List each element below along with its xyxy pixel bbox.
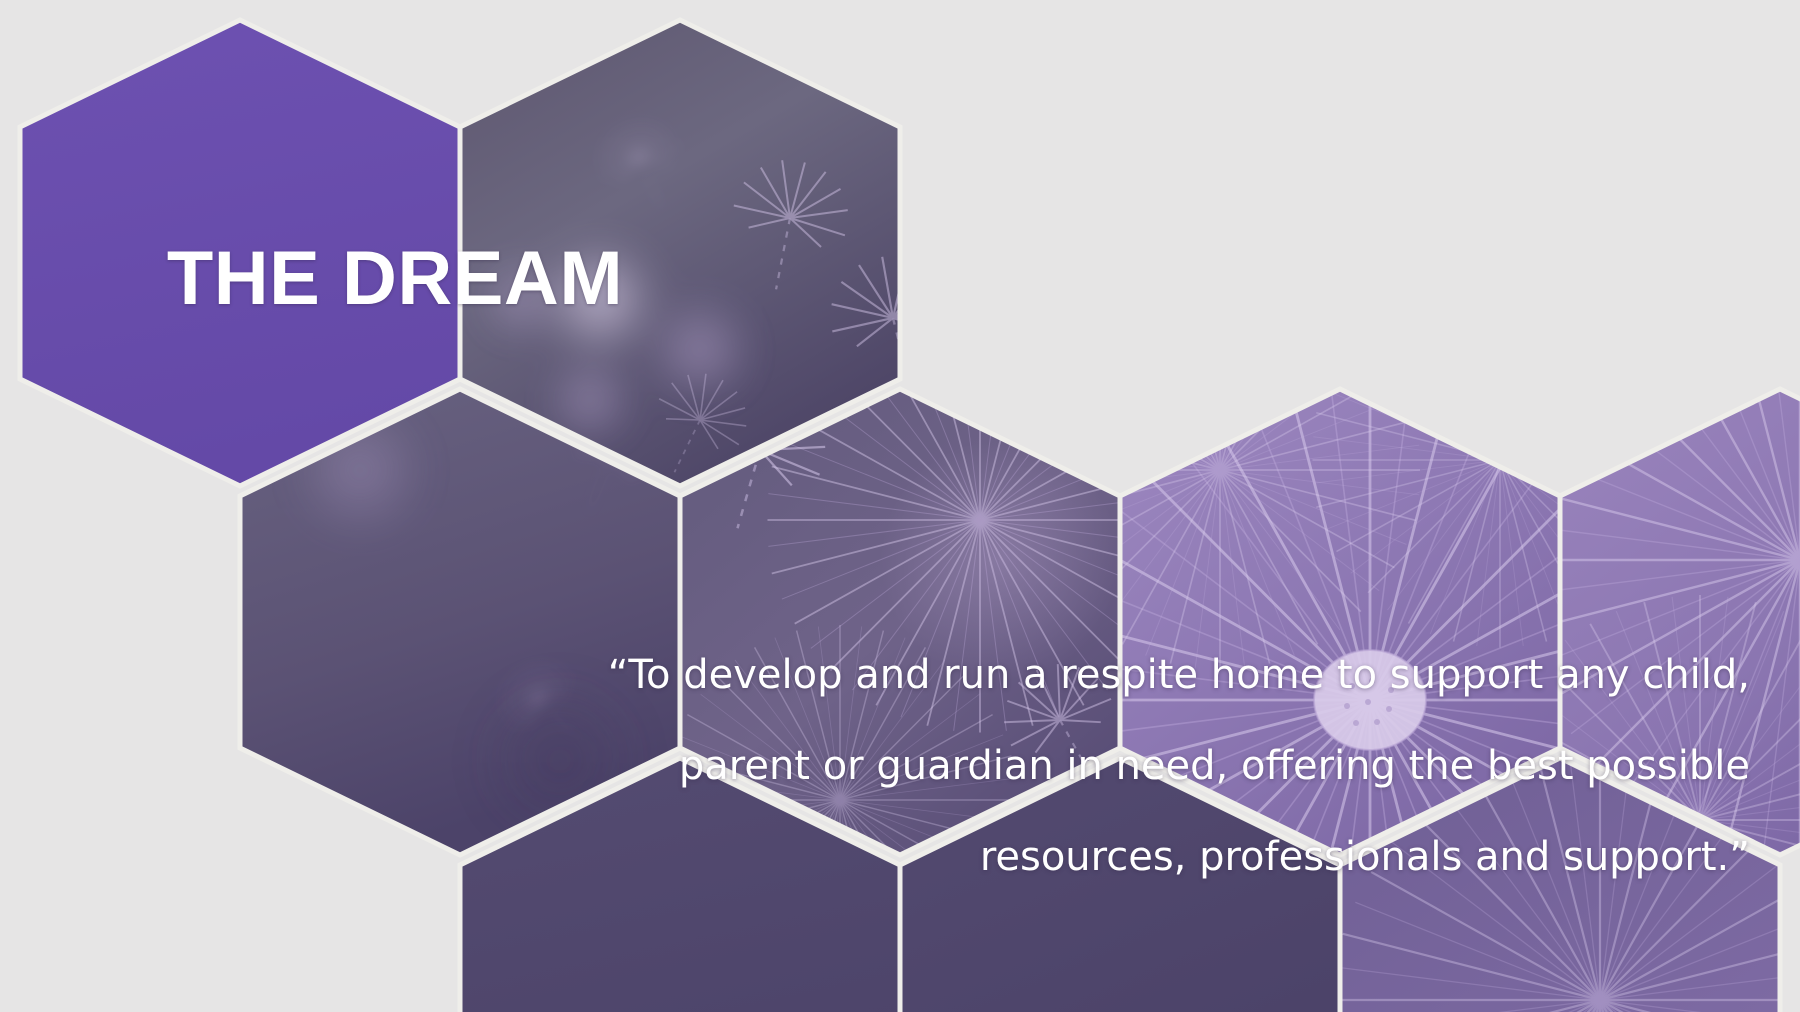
hexagon-mosaic bbox=[0, 0, 1800, 1012]
slide-canvas: THE DREAM “To develop and run a respite … bbox=[0, 0, 1800, 1012]
